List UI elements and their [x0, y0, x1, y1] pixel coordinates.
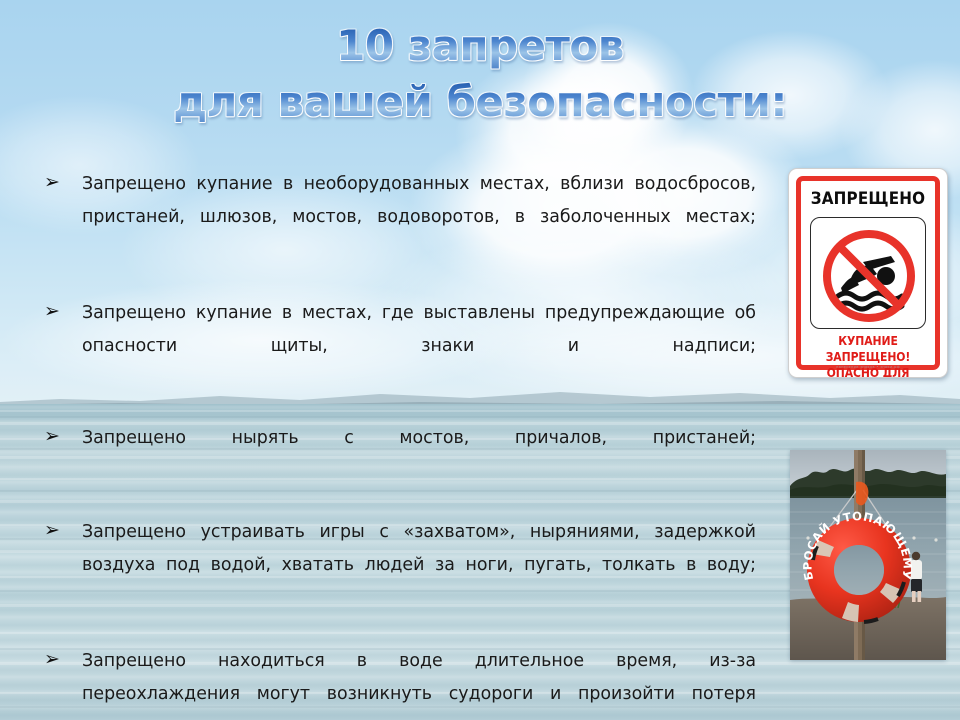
sign-heading: ЗАПРЕЩЕНО — [795, 189, 940, 208]
list-item: ➢ Запрещено находиться в воде длительное… — [38, 645, 756, 720]
list-item-text: Запрещено находиться в воде длительное в… — [82, 645, 756, 720]
lifebuoy-photograph: БРОСАЙ УТОПАЮЩЕМУ — [790, 450, 946, 660]
sign-footer: КУПАНИЕ ЗАПРЕЩЕНО! ОПАСНО ДЛЯ ЖИЗНИ! — [789, 333, 947, 378]
list-item: ➢ Запрещено устраивать игры с «захватом»… — [38, 516, 756, 615]
list-item-text: Запрещено устраивать игры с «захватом», … — [82, 516, 756, 615]
bullet-arrow-icon: ➢ — [44, 646, 70, 672]
bullet-arrow-icon: ➢ — [44, 517, 70, 543]
bullet-arrow-icon: ➢ — [44, 423, 70, 449]
sign-micro-print: нанесение знаков • знаки.рф — [789, 365, 947, 369]
no-swimming-icon — [811, 218, 927, 330]
sign-pictogram-frame — [810, 217, 926, 329]
bullet-arrow-icon: ➢ — [44, 169, 70, 195]
title-line-2: для вашей безопасности: — [0, 74, 960, 130]
list-item: ➢ Запрещено купание в необорудованных ме… — [38, 168, 756, 267]
list-item: ➢ Запрещено нырять с мостов, причалов, п… — [38, 422, 756, 488]
slide-canvas: 10 запретов для вашей безопасности: ➢ За… — [0, 0, 960, 720]
lifebuoy-scene: БРОСАЙ УТОПАЮЩЕМУ — [790, 450, 946, 660]
list-item: ➢ Запрещено купание в местах, где выстав… — [38, 297, 756, 396]
sign-footer-line-1: КУПАНИЕ ЗАПРЕЩЕНО! — [800, 333, 936, 365]
list-item-text: Запрещено купание в необорудованных мест… — [82, 168, 756, 267]
bullet-arrow-icon: ➢ — [44, 298, 70, 324]
list-item-text: Запрещено купание в местах, где выставле… — [82, 297, 756, 396]
title-line-1: 10 запретов — [0, 18, 960, 74]
slide-title: 10 запретов для вашей безопасности: — [0, 18, 960, 130]
no-swimming-warning-sign: ЗАПРЕЩЕНО — [788, 168, 948, 378]
list-item-text: Запрещено нырять с мостов, причалов, при… — [82, 422, 756, 488]
prohibitions-list: ➢ Запрещено купание в необорудованных ме… — [38, 168, 756, 720]
